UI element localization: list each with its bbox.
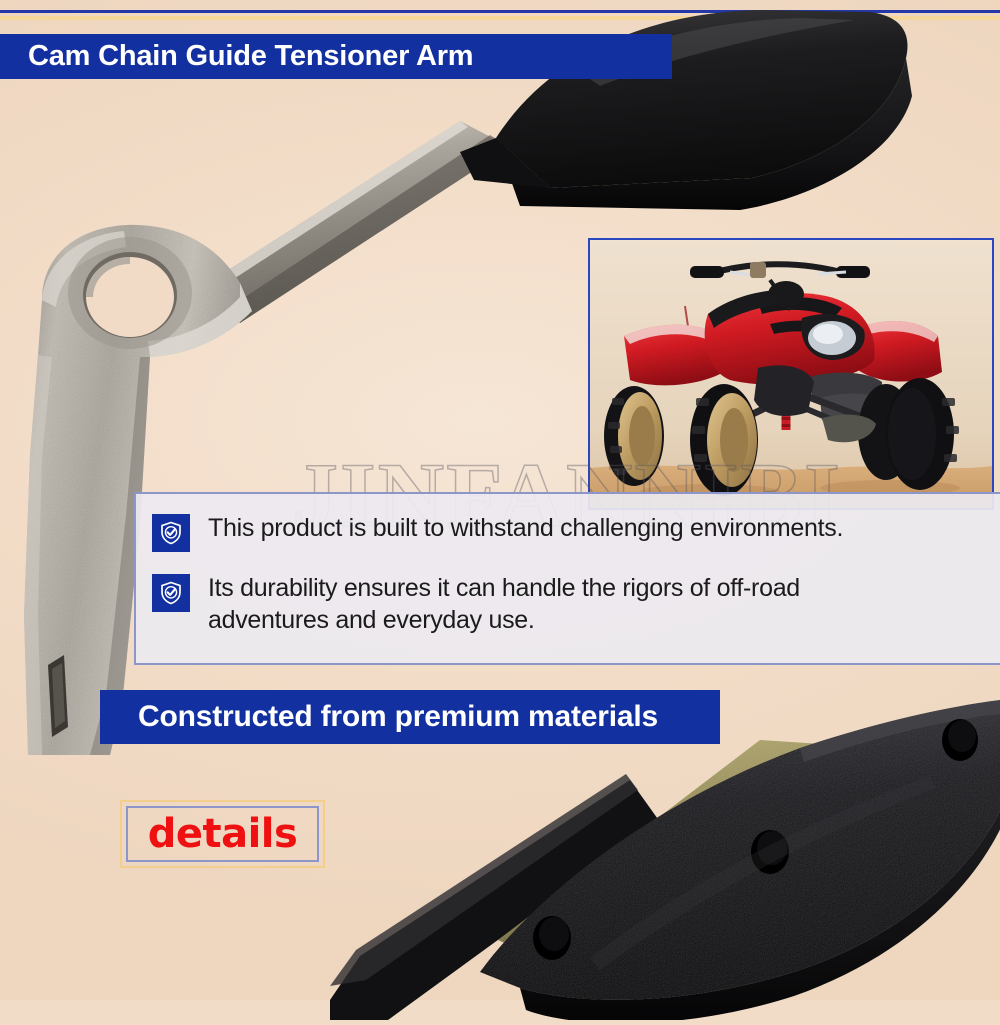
feature-list-box: This product is built to withstand chall… — [134, 492, 1000, 665]
details-box-inner: details — [126, 806, 319, 862]
shield-check-icon — [152, 574, 190, 612]
feature-item: Its durability ensures it can handle the… — [152, 572, 912, 636]
details-box: details — [120, 800, 325, 868]
product-marketing-image: JINFANNIBI Cam Chain Guide Tensioner Arm… — [0, 0, 1000, 1000]
feature-text: This product is built to withstand chall… — [208, 512, 843, 544]
title-banner: Cam Chain Guide Tensioner Arm — [0, 34, 672, 79]
feature-item: This product is built to withstand chall… — [152, 512, 982, 552]
details-label: details — [148, 811, 298, 857]
feature-text: Its durability ensures it can handle the… — [208, 572, 912, 636]
premium-materials-banner: Constructed from premium materials — [100, 690, 720, 744]
shield-check-icon — [152, 514, 190, 552]
